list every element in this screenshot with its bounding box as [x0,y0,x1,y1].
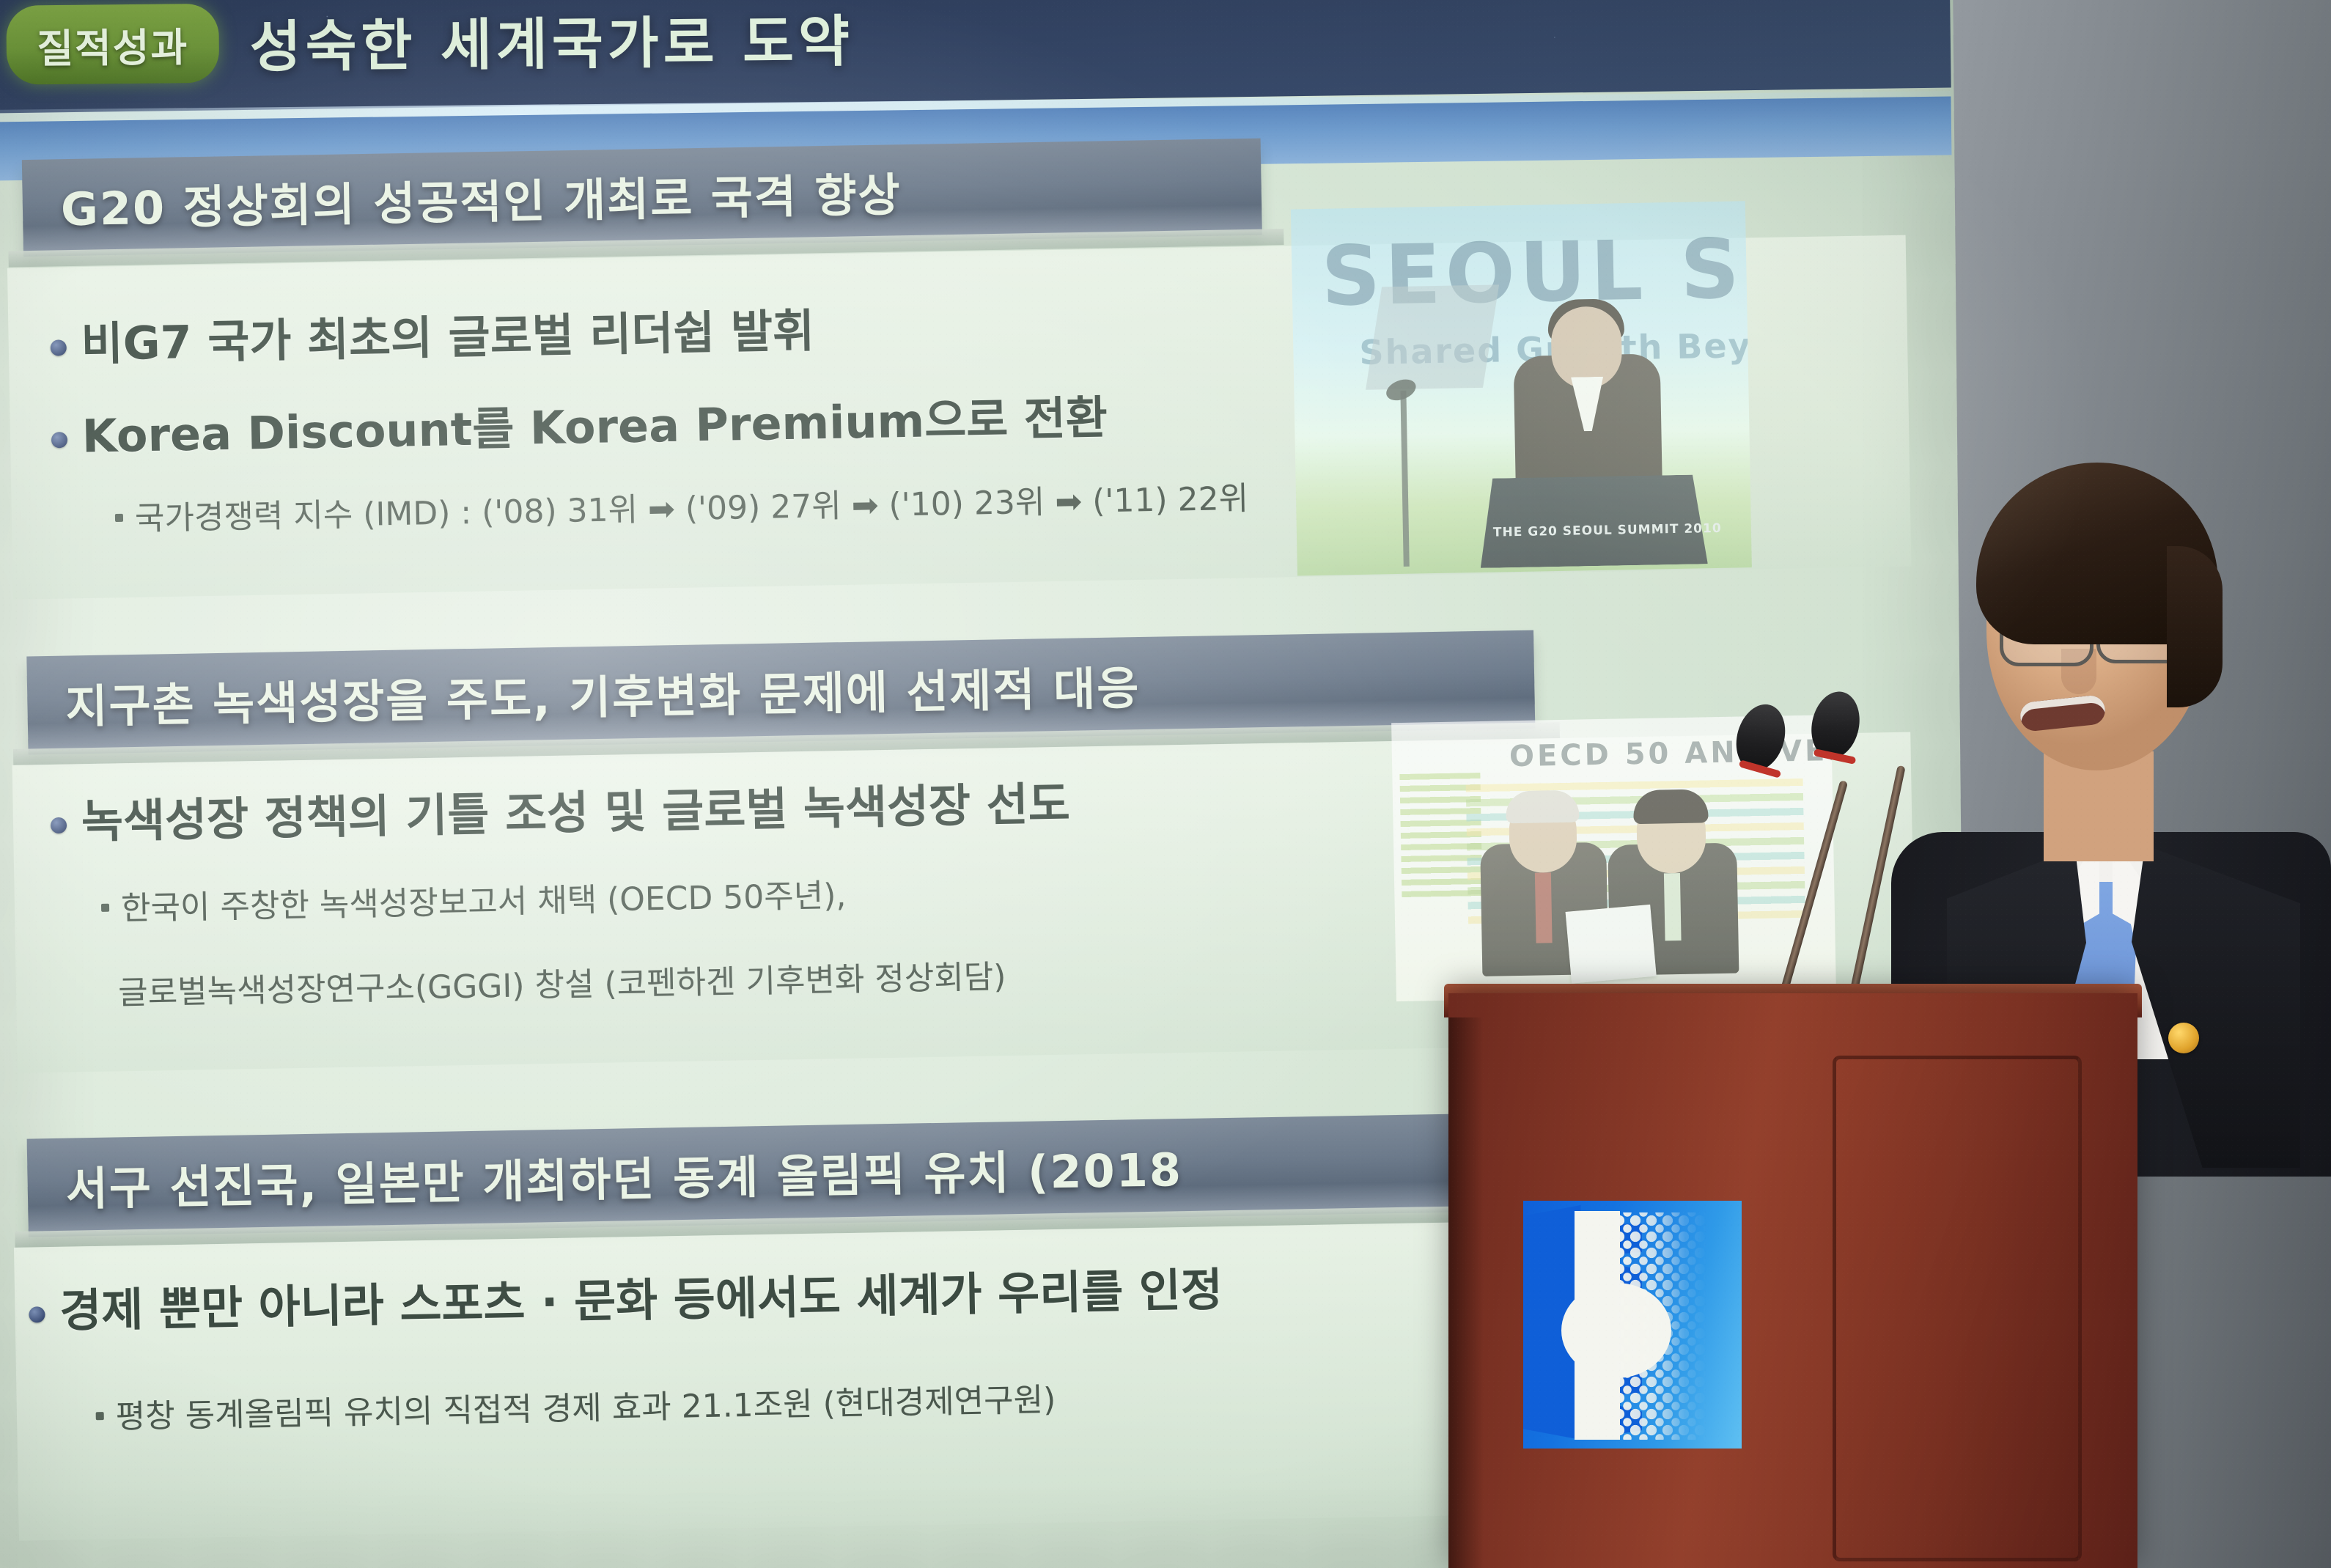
podium-front-panel [1833,1056,2082,1561]
section-2-header: 지구촌 녹색성장을 주도, 기후변화 문제에 선제적 대응 [27,651,1141,736]
bullet-dot-icon [51,339,67,356]
oecd-person-2-hair [1633,789,1709,824]
oecd-person-1-tie [1535,872,1553,943]
speaker-hair-side [2167,546,2223,707]
slide-title-badge: 질적성과 [6,4,219,85]
podium-left-edge [1448,1017,1484,1568]
microphone-right [1781,678,1957,1023]
slide-title-badge-label: 질적성과 [37,15,188,74]
photo-president-head [1550,306,1622,389]
subbullet-dot-icon [101,904,109,912]
oecd-person-2-tie [1664,873,1682,941]
bullet-dot-icon [51,432,67,448]
emblem-halftone-dots [1611,1212,1706,1440]
section-3-header: 서구 선진국, 일본만 개최하던 동계 올림픽 유치 (2018 [27,1133,1183,1218]
subbullet-dot-icon [115,514,123,522]
speaker-lapel-pin-icon [2168,1023,2199,1053]
slide-title: 성숙한 세계국가로 도약 [249,0,854,82]
photo-mic-stand-icon [1400,391,1409,567]
section-1-header: G20 정상회의 성공적인 개최로 국격 향상 [22,158,902,239]
oecd-report-document [1566,905,1657,984]
teleprompter-icon [1366,284,1499,389]
screenshot-stage: 질적성과 성숙한 세계국가로 도약 G20 정상회의 성공적인 개최로 국격 향… [0,0,2331,1568]
g20-seoul-summit-photo: SEOUL SUMMIT Shared Growth Beyond Crisis… [1291,201,1752,575]
bullet-dot-icon [29,1306,45,1322]
subbullet-dot-icon [96,1412,104,1420]
bullet-dot-icon [51,817,67,833]
podium-emblem [1523,1201,1742,1449]
oecd-person-1-hair [1506,790,1580,824]
